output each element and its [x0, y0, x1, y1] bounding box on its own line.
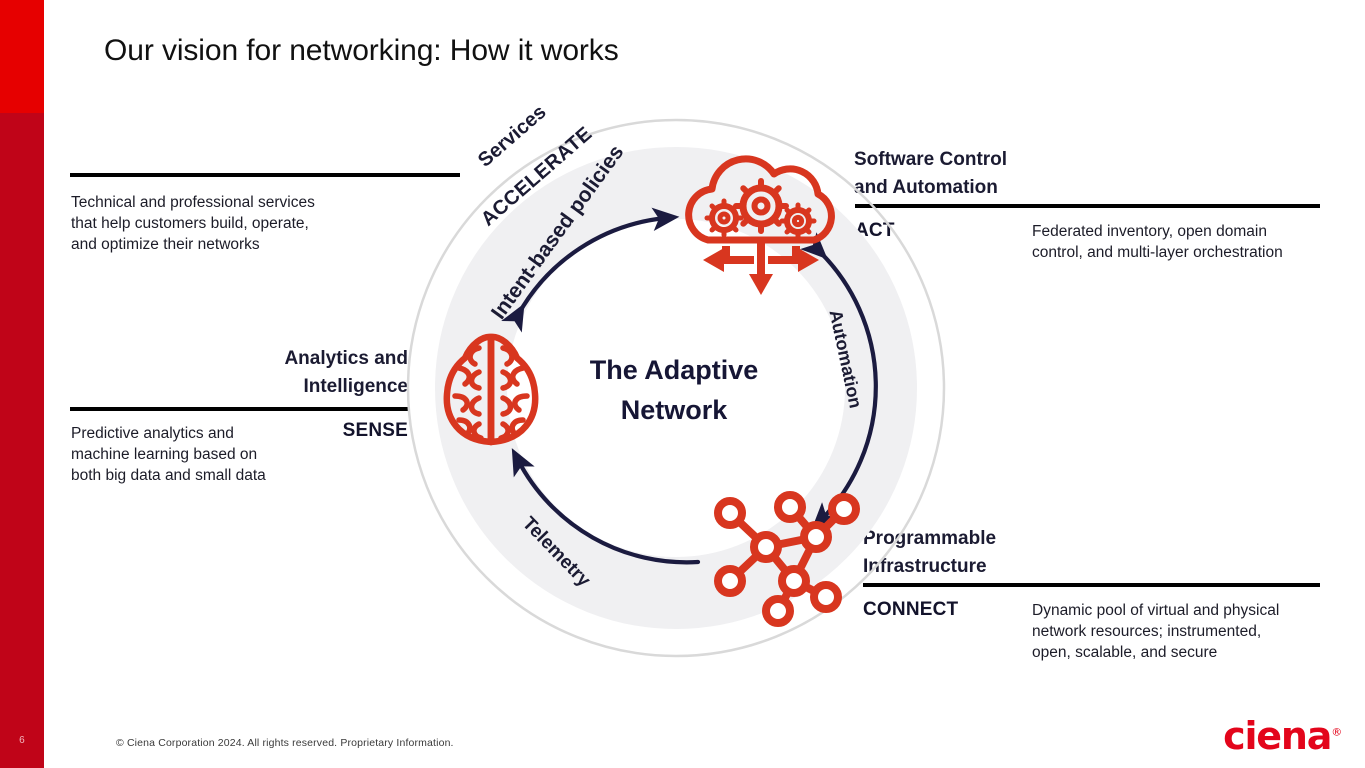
services-body-line: Technical and professional services — [71, 192, 401, 213]
center-label-line: The Adaptive — [540, 350, 808, 390]
services-body-line: that help customers build, operate, — [71, 213, 401, 234]
software-control-body: Federated inventory, open domain control… — [1032, 221, 1332, 263]
analytics-body-line: machine learning based on — [71, 444, 371, 465]
software-control-body-line: control, and multi-layer orchestration — [1032, 242, 1332, 263]
ciena-logo: ciena® — [1223, 714, 1341, 758]
programmable-body-line: Dynamic pool of virtual and physical — [1032, 600, 1332, 621]
left-accent-bar-top — [0, 0, 44, 113]
analytics-body: Predictive analytics and machine learnin… — [71, 423, 371, 486]
ciena-logo-tm: ® — [1331, 725, 1341, 738]
ciena-logo-text: ciena — [1223, 714, 1331, 758]
analytics-heading-line: Intelligence — [108, 373, 408, 401]
slide-canvas: 6 Our vision for networking: How it work… — [0, 0, 1365, 768]
analytics-heading: Analytics and Intelligence — [108, 345, 408, 401]
page-number: 6 — [0, 735, 44, 746]
software-control-body-line: Federated inventory, open domain — [1032, 221, 1332, 242]
services-body: Technical and professional services that… — [71, 192, 401, 255]
center-label-line: Network — [540, 390, 808, 430]
analytics-rule — [70, 407, 408, 411]
programmable-body-line: open, scalable, and secure — [1032, 642, 1332, 663]
analytics-body-line: both big data and small data — [71, 465, 371, 486]
copyright-text: © Ciena Corporation 2024. All rights res… — [116, 737, 454, 749]
page-title: Our vision for networking: How it works — [104, 34, 619, 68]
programmable-body: Dynamic pool of virtual and physical net… — [1032, 600, 1332, 663]
analytics-body-line: Predictive analytics and — [71, 423, 371, 444]
services-body-line: and optimize their networks — [71, 234, 401, 255]
analytics-heading-line: Analytics and — [108, 345, 408, 373]
programmable-body-line: network resources; instrumented, — [1032, 621, 1332, 642]
left-accent-bar-bottom — [0, 113, 44, 768]
diagram-center-label: The Adaptive Network — [540, 350, 808, 430]
